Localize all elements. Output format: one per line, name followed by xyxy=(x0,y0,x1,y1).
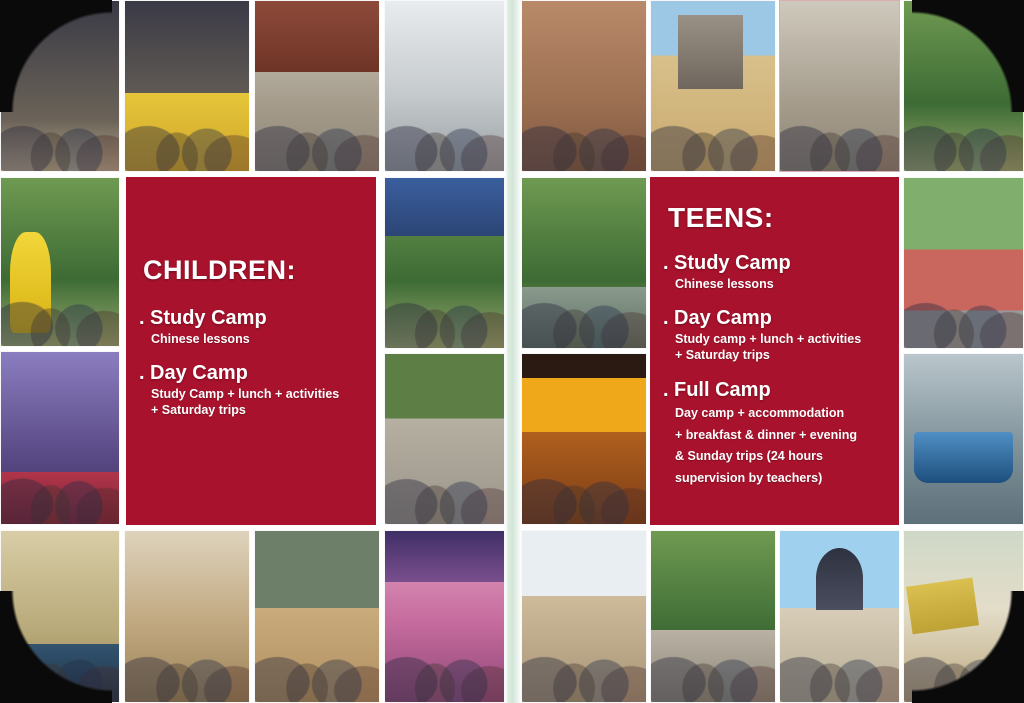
photo-tile: martial-arts-demonstration-street xyxy=(0,177,120,347)
bullet-subline: & Sunday trips (24 hours xyxy=(675,446,857,468)
photo-tile: teen-in-front-of-bronze-statue xyxy=(650,530,776,703)
photo-image xyxy=(651,1,775,171)
photo-tile: children-at-museum-exhibit xyxy=(0,351,120,525)
bullet-heading-text: Full Camp xyxy=(674,379,771,401)
photo-image xyxy=(780,531,899,702)
photo-tile: kids-holding-up-artwork xyxy=(124,530,250,703)
photo-tile: smiling-boy-portrait xyxy=(0,0,120,172)
photo-image xyxy=(385,178,504,348)
photo-tile: group-photo-at-chinese-archway xyxy=(384,177,505,349)
photo-tile: teens-by-the-lake-with-banner xyxy=(521,177,647,349)
bullet-subline: Chinese lessons xyxy=(675,276,791,292)
photo-image xyxy=(385,531,504,702)
bullet-heading-text: Day Camp xyxy=(150,362,248,384)
photo-tile: teens-on-a-boat xyxy=(903,353,1024,525)
teens-info-panel: TEENS: .Study Camp Chinese lessons .Day … xyxy=(650,177,899,525)
children-bullet-day-camp: .Day Camp Study Camp + lunch + activitie… xyxy=(139,362,339,419)
photo-image xyxy=(651,531,775,702)
photo-tile: children-seated-on-yellow-mats xyxy=(124,0,250,172)
bullet-subline: + breakfast & dinner + evening xyxy=(675,425,857,447)
bullet-heading: .Study Camp xyxy=(663,252,791,275)
photo-image xyxy=(385,354,504,524)
photo-image xyxy=(255,1,379,171)
bullet-subline: + Saturday trips xyxy=(151,402,339,418)
photo-image xyxy=(780,1,899,171)
bullet-marker: . xyxy=(139,362,150,385)
photo-tile: teens-posing-at-great-wall-tower xyxy=(650,0,776,172)
photo-image xyxy=(1,531,119,702)
bullet-heading: .Study Camp xyxy=(139,307,267,330)
bullet-marker: . xyxy=(139,307,150,330)
photo-image xyxy=(125,531,249,702)
photo-image xyxy=(904,354,1023,524)
photo-tile: two-boys-at-temple-gate xyxy=(254,0,380,172)
centre-divider xyxy=(505,0,521,703)
bullet-marker: . xyxy=(663,379,674,402)
photo-collage: smiling-boy-portrait children-seated-on-… xyxy=(0,0,1024,703)
children-panel-title: CHILDREN: xyxy=(143,256,296,286)
bullet-subline: Study Camp + lunch + activities xyxy=(151,386,339,402)
photo-image xyxy=(255,531,379,702)
photo-tile: children-playing-football-indoors xyxy=(254,530,380,703)
teens-bullet-full-camp: .Full Camp Day camp + accommodation + br… xyxy=(663,379,857,489)
photo-image xyxy=(522,354,646,524)
photo-tile: two-teens-in-wall-frames xyxy=(521,0,647,172)
bullet-heading: .Day Camp xyxy=(663,307,861,330)
photo-image xyxy=(1,1,119,171)
photo-image xyxy=(522,178,646,348)
children-bullet-study-camp: .Study Camp Chinese lessons xyxy=(139,307,267,347)
photo-tile: girls-at-temple-of-heaven xyxy=(779,530,900,703)
photo-image xyxy=(904,531,1023,702)
bullet-marker: . xyxy=(663,252,674,275)
bullet-heading-text: Day Camp xyxy=(674,307,772,329)
bullet-subline: + Saturday trips xyxy=(675,347,861,363)
photo-tile: group-under-stone-pavilion xyxy=(779,0,900,172)
photo-image xyxy=(125,1,249,171)
photo-image xyxy=(522,1,646,171)
photo-tile: children-dancing-in-park xyxy=(384,353,505,525)
photo-tile: basketball-on-outdoor-court xyxy=(903,177,1024,349)
photo-tile: children-lined-up-by-aircraft xyxy=(384,0,505,172)
bullet-heading-text: Study Camp xyxy=(150,307,267,329)
bullet-subline: Day camp + accommodation xyxy=(675,403,857,425)
bullet-subline: Chinese lessons xyxy=(151,331,267,347)
bullet-subline: supervision by teachers) xyxy=(675,468,857,490)
photo-tile: table-tennis-with-kids xyxy=(0,530,120,703)
teens-bullet-study-camp: .Study Camp Chinese lessons xyxy=(663,252,791,292)
photo-image xyxy=(385,1,504,171)
photo-tile: calligraphy-class xyxy=(903,530,1024,703)
bullet-heading: .Day Camp xyxy=(139,362,339,385)
teens-panel-title: TEENS: xyxy=(668,203,774,234)
photo-image xyxy=(1,178,119,346)
bullet-heading-text: Study Camp xyxy=(674,252,791,274)
bullet-subline: Study camp + lunch + activities xyxy=(675,331,861,347)
photo-image xyxy=(904,178,1023,348)
teens-bullet-day-camp: .Day Camp Study camp + lunch + activitie… xyxy=(663,307,861,364)
photo-tile: kids-hugging-at-science-paradise xyxy=(384,530,505,703)
photo-tile: girl-at-street-food-stall xyxy=(521,353,647,525)
children-info-panel: CHILDREN: .Study Camp Chinese lessons .D… xyxy=(126,177,376,525)
bullet-heading: .Full Camp xyxy=(663,379,857,402)
photo-tile: group-inside-shopping-mall xyxy=(521,530,647,703)
photo-tile: teens-on-great-wall-steps xyxy=(903,0,1024,172)
photo-image xyxy=(522,531,646,702)
bullet-marker: . xyxy=(663,307,674,330)
photo-image xyxy=(1,352,119,524)
photo-image xyxy=(904,1,1023,171)
